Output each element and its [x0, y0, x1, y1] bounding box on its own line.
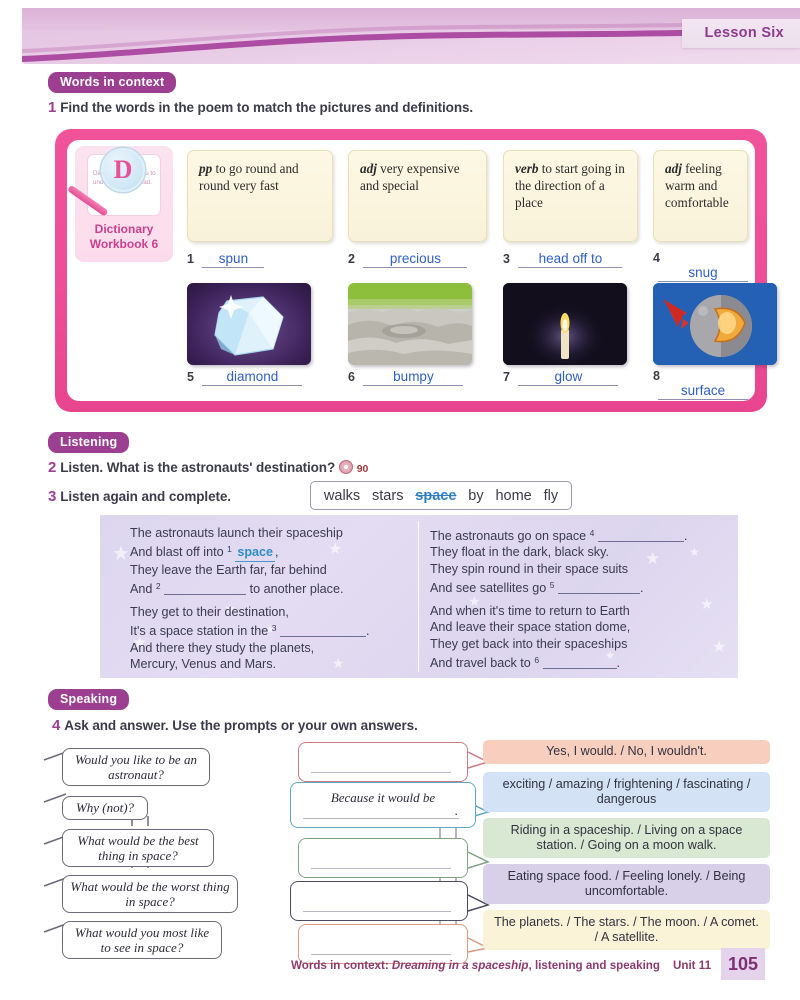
- poem-line: They get to their destination,: [130, 604, 430, 620]
- poem-line-tail: .: [617, 656, 621, 670]
- poem-line-tail: .: [640, 581, 644, 595]
- dictionary-badge[interactable]: Dictionary helps you to understand and r…: [75, 146, 173, 262]
- stanza-gap: [130, 597, 430, 604]
- definition-1-text: to go round and round very fast: [199, 161, 299, 193]
- listening-pill: Listening: [48, 432, 129, 453]
- answer-slot-8[interactable]: 8 surface: [653, 369, 755, 400]
- answer-strip-5: The planets. / The stars. / The moon. / …: [483, 910, 770, 950]
- exercise-2-number: 2: [48, 459, 56, 476]
- footer-title: Dreaming in a spaceship: [392, 959, 529, 972]
- definition-card-2: adj very expensive and special: [348, 150, 487, 242]
- answer-slot-6[interactable]: 6 bumpy: [348, 369, 463, 386]
- definition-card-4: adj feeling warm and comfortable: [653, 150, 748, 242]
- answer-5-number: 5: [187, 370, 194, 384]
- answer-1-number: 1: [187, 252, 194, 266]
- poem-line: And travel back to 6 .: [430, 652, 730, 671]
- answer-write-line[interactable]: [311, 772, 451, 773]
- poem-line-text: And: [130, 582, 152, 596]
- pill-label: Listening: [48, 432, 129, 453]
- answer-bubble-5[interactable]: [298, 924, 468, 964]
- answer-3-number: 3: [503, 252, 510, 266]
- answer-strip-3: Riding in a spaceship. / Living on a spa…: [483, 818, 770, 858]
- poem-blank-number: 3: [272, 623, 277, 633]
- answer-slot-2[interactable]: 2 precious: [348, 251, 467, 268]
- exercise-4-text: Ask and answer. Use the prompts or your …: [64, 718, 417, 733]
- question-bubble-4[interactable]: What would be the worst thing in space?: [62, 875, 238, 913]
- poem-line: And 2 to another place.: [130, 578, 430, 597]
- question-bubble-5[interactable]: What would you most like to see in space…: [62, 921, 222, 959]
- speaking-pill: Speaking: [48, 689, 129, 710]
- definition-2-pos: adj: [360, 161, 377, 176]
- exercise-2-text: Listen. What is the astronauts' destinat…: [60, 460, 335, 475]
- answer-2-value[interactable]: precious: [363, 251, 467, 268]
- poem-blank-number: 2: [156, 581, 161, 591]
- exercise-3-heading: 3Listen again and complete.: [48, 488, 231, 505]
- poem-blank-number: 1: [227, 544, 232, 554]
- answer-strip-4: Eating space food. / Feeling lonely. / B…: [483, 864, 770, 904]
- exercise-1-number: 1: [48, 99, 56, 116]
- poem-line: They float in the dark, black sky.: [430, 544, 730, 560]
- answer-strip-1-text: Yes, I would. / No, I wouldn't.: [546, 744, 707, 760]
- poem-blank-4[interactable]: [598, 530, 684, 542]
- poem-line-tail: ,: [275, 545, 279, 559]
- answer-6-number: 6: [348, 370, 355, 384]
- definition-4-pos: adj: [665, 161, 682, 176]
- poem-line-text: The astronauts go on space: [430, 529, 586, 543]
- exercise-4-heading: 4Ask and answer. Use the prompts or your…: [52, 717, 418, 734]
- word-bank-box: walks stars space by home fly: [310, 481, 572, 510]
- question-bubble-3[interactable]: What would be the best thing in space?: [62, 829, 214, 867]
- vocabulary-panel: Dictionary helps you to understand and r…: [55, 129, 767, 412]
- answer-bubble-2[interactable]: Because it would be .: [290, 782, 476, 828]
- pill-label: Speaking: [48, 689, 129, 710]
- exercise-1-heading: 1Find the words in the poem to match the…: [48, 99, 473, 116]
- poem-line-text: And travel back to: [430, 656, 531, 670]
- answer-strip-5-text: The planets. / The stars. / The moon. / …: [491, 915, 762, 946]
- dictionary-letter-d: D: [114, 155, 133, 185]
- word-bank-item-by[interactable]: by: [468, 488, 483, 504]
- poem-stanza-right: The astronauts go on space 4 . They floa…: [430, 525, 730, 671]
- word-bank-item-stars[interactable]: stars: [372, 488, 403, 504]
- answer-strip-1: Yes, I would. / No, I wouldn't.: [483, 740, 770, 764]
- poem-blank-5[interactable]: [558, 582, 640, 594]
- answer-5-value[interactable]: diamond: [202, 369, 302, 386]
- question-4-text: What would be the worst thing in space?: [70, 879, 230, 910]
- question-1-text: Would you like to be an astronaut?: [70, 752, 202, 783]
- exercise-4-number: 4: [52, 717, 60, 734]
- header-swoosh-decoration: [0, 0, 800, 68]
- answer-write-line[interactable]: [311, 868, 451, 869]
- diamond-crystal-image: [187, 283, 311, 365]
- poem-line-text: And blast off into: [130, 545, 224, 559]
- footer-unit: Unit 11: [673, 959, 711, 972]
- poem-line-tail: to another place.: [250, 582, 344, 596]
- answer-bubble-1[interactable]: [298, 742, 468, 782]
- exercise-3-text: Listen again and complete.: [60, 489, 231, 504]
- exercise-2-heading: 2Listen. What is the astronauts' destina…: [48, 459, 368, 476]
- question-2-text: Why (not)?: [76, 800, 134, 816]
- planet-surface-cutaway-image: [653, 283, 777, 365]
- words-in-context-pill: Words in context: [48, 72, 176, 93]
- poem-blank-number: 4: [590, 528, 595, 538]
- answer-bubble-3[interactable]: [298, 838, 468, 878]
- answer-8-value[interactable]: surface: [658, 383, 748, 400]
- poem-line: The astronauts go on space 4 .: [430, 525, 730, 544]
- poem-line: And see satellites go 5 .: [430, 577, 730, 596]
- answer-slot-4[interactable]: 4 snug: [653, 251, 755, 282]
- dictionary-label: Dictionary Workbook 6: [75, 222, 173, 252]
- answer-write-line[interactable]: [311, 954, 451, 955]
- poem-line: And leave their space station dome,: [430, 619, 730, 635]
- poem-line-text: It's a space station in the: [130, 624, 268, 638]
- answer-bubble-4[interactable]: [290, 881, 468, 921]
- poem-answer-1[interactable]: space: [235, 544, 275, 561]
- question-3-text: What would be the best thing in space?: [70, 833, 206, 864]
- footer-suffix: , listening and speaking: [529, 959, 660, 972]
- word-bank-item-space[interactable]: space: [415, 488, 456, 504]
- answer-6-value[interactable]: bumpy: [363, 369, 463, 386]
- answer-period: .: [454, 803, 458, 818]
- footer-prefix: Words in context:: [291, 959, 392, 972]
- answer-strip-3-text: Riding in a spaceship. / Living on a spa…: [491, 823, 762, 854]
- dictionary-label-line2: Workbook 6: [90, 237, 158, 251]
- answer-write-line[interactable]: [303, 911, 451, 912]
- answer-write-line[interactable]: [303, 818, 459, 819]
- answer-bubble-2-text: Because it would be: [291, 790, 475, 806]
- question-5-text: What would you most like to see in space…: [70, 925, 214, 956]
- answer-slot-7[interactable]: 7 glow: [503, 369, 618, 386]
- answer-strip-4-text: Eating space food. / Feeling lonely. / B…: [491, 869, 762, 900]
- exercise-3-number: 3: [48, 488, 56, 505]
- poem-blank-3[interactable]: [280, 625, 366, 637]
- poem-line: And when it's time to return to Earth: [430, 603, 730, 619]
- definition-card-3: verb to start going in the direction of …: [503, 150, 638, 242]
- poem-line-text: And see satellites go: [430, 581, 546, 595]
- answer-1-value[interactable]: spun: [202, 251, 264, 268]
- answer-4-value[interactable]: snug: [658, 265, 748, 282]
- poem-line: They spin round in their space suits: [430, 561, 730, 577]
- poem-blank-6[interactable]: [543, 657, 617, 669]
- poem-stanza-left: The astronauts launch their spaceship An…: [130, 525, 430, 672]
- lesson-tab[interactable]: Lesson Six: [682, 19, 800, 48]
- answer-3-value[interactable]: head off to: [518, 251, 622, 268]
- definition-card-1: pp to go round and round very fast: [187, 150, 333, 242]
- answer-slot-5[interactable]: 5 diamond: [187, 369, 302, 386]
- stanza-gap: [430, 596, 730, 603]
- answer-slot-3[interactable]: 3 head off to: [503, 251, 622, 268]
- vocabulary-panel-inner: Dictionary helps you to understand and r…: [67, 140, 755, 401]
- poem-line: They leave the Earth far, far behind: [130, 562, 430, 578]
- page-header: Lesson Six: [0, 0, 800, 68]
- magnifier-lens-icon: D: [101, 148, 145, 192]
- poem-blank-number: 6: [534, 655, 539, 665]
- answer-4-number: 4: [653, 251, 660, 265]
- poem-panel: ★ ★ ★ ★ ★ ★ ★ ★ ★ ★ ★ ★ The astronauts l…: [100, 515, 738, 678]
- word-bank-item-walks[interactable]: walks: [324, 488, 360, 504]
- answer-slot-1[interactable]: 1 spun: [187, 251, 264, 268]
- poem-line: And blast off into 1 space,: [130, 541, 430, 561]
- bumpy-rocky-terrain-image: [348, 283, 472, 365]
- glowing-candle-image: [503, 283, 627, 365]
- pill-label: Words in context: [48, 72, 176, 93]
- poem-blank-number: 5: [550, 580, 555, 590]
- exercise-1-text: Find the words in the poem to match the …: [60, 100, 473, 115]
- question-bubble-2[interactable]: Why (not)?: [62, 796, 148, 820]
- answer-7-value[interactable]: glow: [518, 369, 618, 386]
- definition-3-pos: verb: [515, 161, 538, 176]
- footer-page-number: 105: [721, 948, 765, 980]
- poem-line: It's a space station in the 3 .: [130, 620, 430, 639]
- word-bank-item-fly[interactable]: fly: [544, 488, 559, 504]
- answer-strip-2: exciting / amazing / frightening / fasci…: [483, 772, 770, 812]
- word-bank-item-home[interactable]: home: [495, 488, 531, 504]
- answer-strip-2-text: exciting / amazing / frightening / fasci…: [491, 777, 762, 808]
- footer-caption: Words in context: Dreaming in a spaceshi…: [291, 959, 660, 972]
- poem-line: And there they study the planets,: [130, 640, 430, 656]
- poem-line-tail: .: [684, 529, 688, 543]
- dictionary-label-line1: Dictionary: [95, 222, 154, 236]
- audio-cd-icon[interactable]: [339, 460, 353, 474]
- poem-line: Mercury, Venus and Mars.: [130, 656, 430, 672]
- definition-1-pos: pp: [199, 161, 212, 176]
- poem-blank-2[interactable]: [164, 583, 246, 595]
- poem-line-tail: .: [366, 624, 370, 638]
- question-bubble-1[interactable]: Would you like to be an astronaut?: [62, 748, 210, 786]
- star-icon: ★: [112, 541, 130, 566]
- poem-line: They get back into their spaceships: [430, 636, 730, 652]
- answer-2-number: 2: [348, 252, 355, 266]
- answer-7-number: 7: [503, 370, 510, 384]
- answer-8-number: 8: [653, 369, 660, 383]
- audio-track-number: 90: [357, 463, 368, 475]
- poem-line: The astronauts launch their spaceship: [130, 525, 430, 541]
